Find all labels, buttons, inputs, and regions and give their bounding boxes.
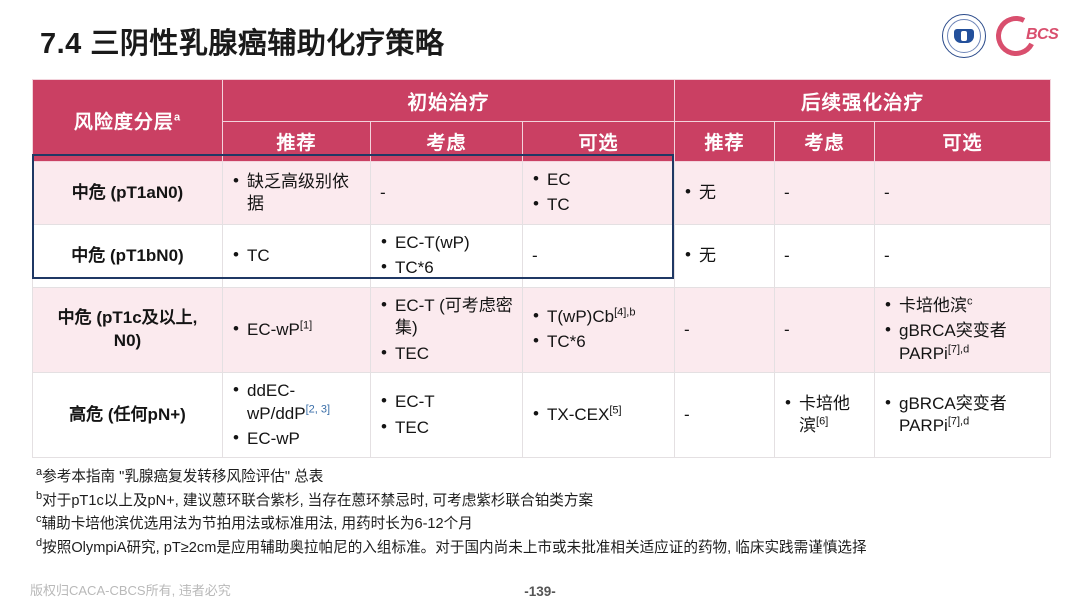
table-row: 高危 (任何pN+)ddEC-wP/ddP[2, 3]EC-wPEC-TTECT… bbox=[33, 373, 1051, 458]
cell-post-consider: - bbox=[775, 162, 875, 225]
bcs-logo: BCS bbox=[996, 15, 1066, 57]
cell-initial-recommend: EC-wP[1] bbox=[223, 287, 371, 372]
th-risk-label: 风险度分层 bbox=[74, 112, 174, 133]
cell-initial-optional: TX-CEX[5] bbox=[523, 373, 675, 458]
treatment-table: 风险度分层a 初始治疗 后续强化治疗 推荐 考虑 可选 推荐 考虑 可选 中危 … bbox=[32, 79, 1051, 458]
th-initial-optional: 可选 bbox=[523, 122, 675, 162]
list-item: 无 bbox=[684, 182, 765, 204]
cell-initial-consider: EC-TTEC bbox=[371, 373, 523, 458]
footnote-item: d按照OlympiA研究, pT≥2cm是应用辅助奥拉帕尼的入组标准。对于国内尚… bbox=[36, 537, 1056, 561]
table-head-row-group: 风险度分层a 初始治疗 后续强化治疗 bbox=[33, 80, 1051, 122]
cell-post-consider: - bbox=[775, 224, 875, 287]
cell-risk-stratification: 中危 (pT1c及以上, N0) bbox=[33, 287, 223, 372]
cell-initial-consider: EC-T(wP)TC*6 bbox=[371, 224, 523, 287]
table-row: 中危 (pT1aN0)缺乏高级别依据-ECTC无-- bbox=[33, 162, 1051, 225]
bcs-logo-label: BCS bbox=[1026, 26, 1058, 44]
th-initial-recommend: 推荐 bbox=[223, 122, 371, 162]
list-item: TC bbox=[232, 245, 361, 267]
footnote-list: a参考本指南 "乳腺癌复发转移风险评估" 总表b对于pT1c以上及pN+, 建议… bbox=[36, 466, 1056, 561]
cell-post-consider: - bbox=[775, 287, 875, 372]
table-row: 中危 (pT1bN0)TCEC-T(wP)TC*6-无-- bbox=[33, 224, 1051, 287]
cell-initial-consider: - bbox=[371, 162, 523, 225]
cell-post-consider: 卡培他滨[6] bbox=[775, 373, 875, 458]
cell-risk-stratification: 中危 (pT1aN0) bbox=[33, 162, 223, 225]
footnote-item: b对于pT1c以上及pN+, 建议蒽环联合紫杉, 当存在蒽环禁忌时, 可考虑紫杉… bbox=[36, 490, 1056, 514]
footnote-text: 对于pT1c以上及pN+, 建议蒽环联合紫杉, 当存在蒽环禁忌时, 可考虑紫杉联… bbox=[42, 493, 593, 509]
cell-post-optional: 卡培他滨cgBRCA突变者 PARPi[7],d bbox=[875, 287, 1051, 372]
th-risk-note-marker: a bbox=[174, 112, 181, 124]
footnote-text: 按照OlympiA研究, pT≥2cm是应用辅助奥拉帕尼的入组标准。对于国内尚未… bbox=[42, 540, 866, 556]
cell-post-recommend: 无 bbox=[675, 162, 775, 225]
th-group-initial: 初始治疗 bbox=[223, 80, 675, 122]
cell-post-recommend: 无 bbox=[675, 224, 775, 287]
cell-post-recommend: - bbox=[675, 287, 775, 372]
cell-post-recommend: - bbox=[675, 373, 775, 458]
list-item: EC-T (可考虑密集) bbox=[380, 295, 513, 340]
cell-initial-consider: EC-T (可考虑密集)TEC bbox=[371, 287, 523, 372]
caca-seal-core-icon bbox=[954, 29, 974, 43]
page-number: -139- bbox=[0, 584, 1080, 599]
table-body: 中危 (pT1aN0)缺乏高级别依据-ECTC无--中危 (pT1bN0)TCE… bbox=[33, 162, 1051, 458]
cell-risk-stratification: 中危 (pT1bN0) bbox=[33, 224, 223, 287]
footnote-item: a参考本指南 "乳腺癌复发转移风险评估" 总表 bbox=[36, 466, 1056, 490]
slide-root: CACA-CBCS 7.4 三阴性乳腺癌辅助化疗策略 BCS 风险度分层a bbox=[0, 0, 1080, 608]
footnote-text: 参考本指南 "乳腺癌复发转移风险评估" 总表 bbox=[42, 469, 323, 485]
list-item: 无 bbox=[684, 245, 765, 267]
footnote-text: 辅助卡培他滨优选用法为节拍用法或标准用法, 用药时长为6-12个月 bbox=[42, 516, 473, 532]
list-item: TEC bbox=[380, 343, 513, 365]
list-item: 缺乏高级别依据 bbox=[232, 171, 361, 216]
list-item: TC bbox=[532, 194, 665, 216]
caca-seal-icon bbox=[942, 14, 986, 58]
cell-initial-recommend: 缺乏高级别依据 bbox=[223, 162, 371, 225]
page-title: 7.4 三阴性乳腺癌辅助化疗策略 bbox=[40, 20, 444, 62]
cell-initial-optional: - bbox=[523, 224, 675, 287]
th-risk-stratification: 风险度分层a bbox=[33, 80, 223, 162]
table-head: 风险度分层a 初始治疗 后续强化治疗 推荐 考虑 可选 推荐 考虑 可选 bbox=[33, 80, 1051, 162]
logo-group: BCS bbox=[942, 14, 1066, 58]
footnote-item: c辅助卡培他滨优选用法为节拍用法或标准用法, 用药时长为6-12个月 bbox=[36, 513, 1056, 537]
th-post-consider: 考虑 bbox=[775, 122, 875, 162]
th-post-recommend: 推荐 bbox=[675, 122, 775, 162]
cell-risk-stratification: 高危 (任何pN+) bbox=[33, 373, 223, 458]
table-row: 中危 (pT1c及以上, N0)EC-wP[1]EC-T (可考虑密集)TECT… bbox=[33, 287, 1051, 372]
cell-post-optional: - bbox=[875, 162, 1051, 225]
th-initial-consider: 考虑 bbox=[371, 122, 523, 162]
cell-initial-optional: ECTC bbox=[523, 162, 675, 225]
cell-post-optional: - bbox=[875, 224, 1051, 287]
list-item: EC bbox=[532, 169, 665, 191]
th-post-optional: 可选 bbox=[875, 122, 1051, 162]
cell-post-optional: gBRCA突变者 PARPi[7],d bbox=[875, 373, 1051, 458]
th-group-postintensive: 后续强化治疗 bbox=[675, 80, 1051, 122]
list-item: TEC bbox=[380, 417, 513, 439]
cell-initial-recommend: ddEC-wP/ddP[2, 3]EC-wP bbox=[223, 373, 371, 458]
list-item: TC*6 bbox=[380, 257, 513, 279]
cell-initial-optional: T(wP)Cb[4],bTC*6 bbox=[523, 287, 675, 372]
treatment-table-wrapper: 风险度分层a 初始治疗 后续强化治疗 推荐 考虑 可选 推荐 考虑 可选 中危 … bbox=[32, 79, 1050, 458]
cell-initial-recommend: TC bbox=[223, 224, 371, 287]
list-item: EC-T(wP) bbox=[380, 232, 513, 254]
list-item: EC-T bbox=[380, 391, 513, 413]
